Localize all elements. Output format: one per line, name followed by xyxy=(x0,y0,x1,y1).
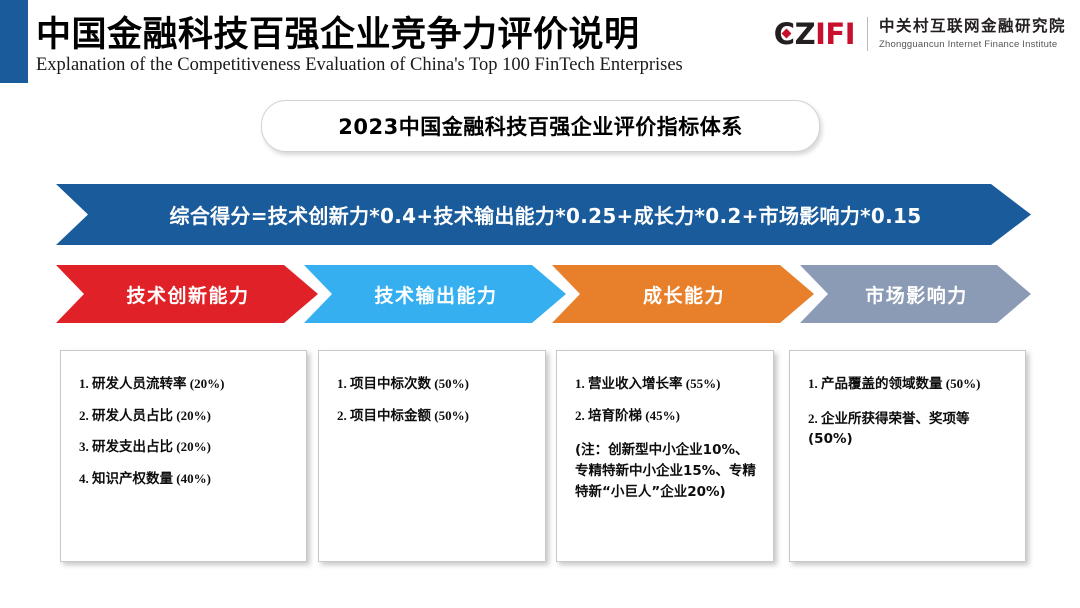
category-chevron-label: 技术创新能力 xyxy=(124,281,249,308)
detail-card-line: 3. 研发支出占比 (20%) xyxy=(79,440,292,456)
detail-card-line: 2. 研发人员占比 (20%) xyxy=(79,409,292,425)
line-text: 产品覆盖的领域数量 xyxy=(821,376,943,392)
detail-card-4: 1. 产品覆盖的领域数量 (50%)2. 企业所获得荣誉、奖项等 (50%) xyxy=(789,350,1026,562)
line-weight: (45%) xyxy=(642,408,680,423)
logo-letter-z: Z xyxy=(795,20,816,49)
category-chevron-row: 技术创新能力技术输出能力成长能力市场影响力 xyxy=(56,265,1031,323)
line-weight: (40%) xyxy=(173,471,211,486)
line-number: 2. xyxy=(808,411,821,426)
line-text: 研发人员流转率 xyxy=(92,376,187,392)
line-number: 2. xyxy=(337,408,350,423)
line-weight: (20%) xyxy=(173,408,211,423)
detail-card-line: 2. 企业所获得荣誉、奖项等 (50%) xyxy=(808,409,1011,451)
line-number: 2. xyxy=(79,408,92,423)
line-text: 项目中标次数 xyxy=(350,376,431,392)
page-title-cn: 中国金融科技百强企业竞争力评价说明 xyxy=(36,6,640,57)
header-accent-bar xyxy=(0,0,28,83)
detail-card-1: 1. 研发人员流转率 (20%)2. 研发人员占比 (20%)3. 研发支出占比… xyxy=(60,350,307,562)
line-number: 1. xyxy=(79,376,92,391)
logo-name-en: Zhongguancun Internet Finance Institute xyxy=(879,38,1066,51)
category-chevron-2[interactable]: 技术输出能力 xyxy=(304,265,566,323)
institute-logo: C Z IFI 中关村互联网金融研究院 Zhongguancun Interne… xyxy=(774,11,1066,57)
line-text: 项目中标金额 xyxy=(350,408,431,424)
czifi-logo-mark: C Z IFI xyxy=(774,19,867,49)
slide-canvas: 中国金融科技百强企业竞争力评价说明 Explanation of the Com… xyxy=(0,0,1080,608)
line-number: 2. xyxy=(575,408,588,423)
category-chevron-1[interactable]: 技术创新能力 xyxy=(56,265,318,323)
category-chevron-4[interactable]: 市场影响力 xyxy=(800,265,1031,323)
detail-card-2: 1. 项目中标次数 (50%)2. 项目中标金额 (50%) xyxy=(318,350,546,562)
line-text: 知识产权数量 xyxy=(92,471,173,487)
line-text: 研发支出占比 xyxy=(92,439,173,455)
line-number: 1. xyxy=(575,376,588,391)
logo-text-block: 中关村互联网金融研究院 Zhongguancun Internet Financ… xyxy=(879,17,1066,51)
line-weight: (50%) xyxy=(943,376,981,391)
subtitle-pill: 2023中国金融科技百强企业评价指标体系 xyxy=(261,100,820,152)
line-text: 培育阶梯 xyxy=(588,408,642,424)
detail-card-3: 1. 营业收入增长率 (55%)2. 培育阶梯 (45%)(注：创新型中小企业1… xyxy=(556,350,774,562)
detail-cards-row: 1. 研发人员流转率 (20%)2. 研发人员占比 (20%)3. 研发支出占比… xyxy=(0,350,1080,568)
category-chevron-label: 技术输出能力 xyxy=(372,281,497,308)
line-weight: (55%) xyxy=(683,376,721,391)
subtitle-text: 2023中国金融科技百强企业评价指标体系 xyxy=(338,111,742,141)
detail-card-line: 1. 研发人员流转率 (20%) xyxy=(79,377,292,393)
line-weight: (20%) xyxy=(173,439,211,454)
formula-banner: 综合得分=技术创新力*0.4+技术输出能力*0.25+成长力*0.2+市场影响力… xyxy=(56,184,1031,245)
detail-card-line: 1. 项目中标次数 (50%) xyxy=(337,377,531,393)
detail-card-line: (注：创新型中小企业10%、专精特新中小企业15%、专精特新“小巨人”企业20%… xyxy=(575,440,759,503)
category-chevron-label: 市场影响力 xyxy=(863,281,968,308)
formula-text: 综合得分=技术创新力*0.4+技术输出能力*0.25+成长力*0.2+市场影响力… xyxy=(166,200,922,229)
line-text: 研发人员占比 xyxy=(92,408,173,424)
logo-letter-ifi: IFI xyxy=(815,20,855,49)
logo-divider xyxy=(867,17,868,51)
category-chevron-label: 成长能力 xyxy=(641,281,725,308)
line-number: 1. xyxy=(808,376,821,391)
line-weight: (20%) xyxy=(187,376,225,391)
detail-card-line: 4. 知识产权数量 (40%) xyxy=(79,472,292,488)
detail-card-line: 1. 产品覆盖的领域数量 (50%) xyxy=(808,377,1011,393)
page-title-en: Explanation of the Competitiveness Evalu… xyxy=(36,55,683,76)
line-weight: (50%) xyxy=(431,376,469,391)
line-weight: (50%) xyxy=(431,408,469,423)
category-chevron-3[interactable]: 成长能力 xyxy=(552,265,814,323)
detail-card-line: 1. 营业收入增长率 (55%) xyxy=(575,377,759,393)
line-text: 企业所获得荣誉、奖项等 (50%) xyxy=(808,411,970,448)
detail-card-line: 2. 培育阶梯 (45%) xyxy=(575,409,759,425)
line-text: 营业收入增长率 xyxy=(588,376,683,392)
line-number: 1. xyxy=(337,376,350,391)
line-number: 4. xyxy=(79,471,92,486)
line-number: 3. xyxy=(79,439,92,454)
detail-card-line: 2. 项目中标金额 (50%) xyxy=(337,409,531,425)
logo-name-cn: 中关村互联网金融研究院 xyxy=(879,17,1066,36)
line-text: (注：创新型中小企业10%、专精特新中小企业15%、专精特新“小巨人”企业20%… xyxy=(575,442,756,500)
